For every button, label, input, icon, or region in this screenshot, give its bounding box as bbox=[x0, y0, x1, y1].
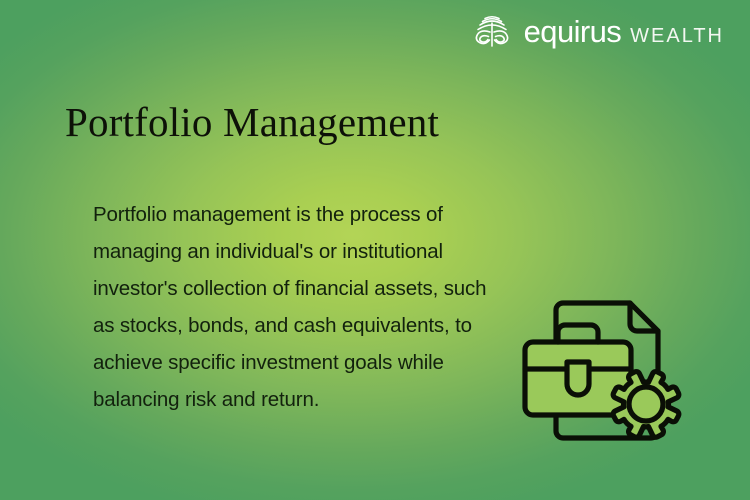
brand-logo: equirus WEALTH bbox=[471, 12, 724, 50]
slide-canvas: equirus WEALTH Portfolio Management Port… bbox=[0, 0, 750, 500]
body-line: achieve specific investment goals while bbox=[93, 344, 563, 381]
brand-suffix: WEALTH bbox=[630, 26, 724, 46]
body-line: Portfolio management is the process of bbox=[93, 196, 563, 233]
briefcase-icon bbox=[525, 325, 631, 415]
body-paragraph: Portfolio management is the process of m… bbox=[93, 196, 563, 418]
body-line: investor's collection of financial asset… bbox=[93, 270, 563, 307]
brand-wordmark: equirus WEALTH bbox=[524, 16, 724, 47]
portfolio-management-illustration bbox=[518, 296, 718, 466]
body-line: as stocks, bonds, and cash equivalents, … bbox=[93, 307, 563, 344]
page-title: Portfolio Management bbox=[65, 98, 439, 146]
equirus-tree-logo-icon bbox=[471, 12, 513, 50]
body-line: balancing risk and return. bbox=[93, 381, 563, 418]
body-line: managing an individual's or institutiona… bbox=[93, 233, 563, 270]
brand-name: equirus bbox=[524, 16, 621, 47]
